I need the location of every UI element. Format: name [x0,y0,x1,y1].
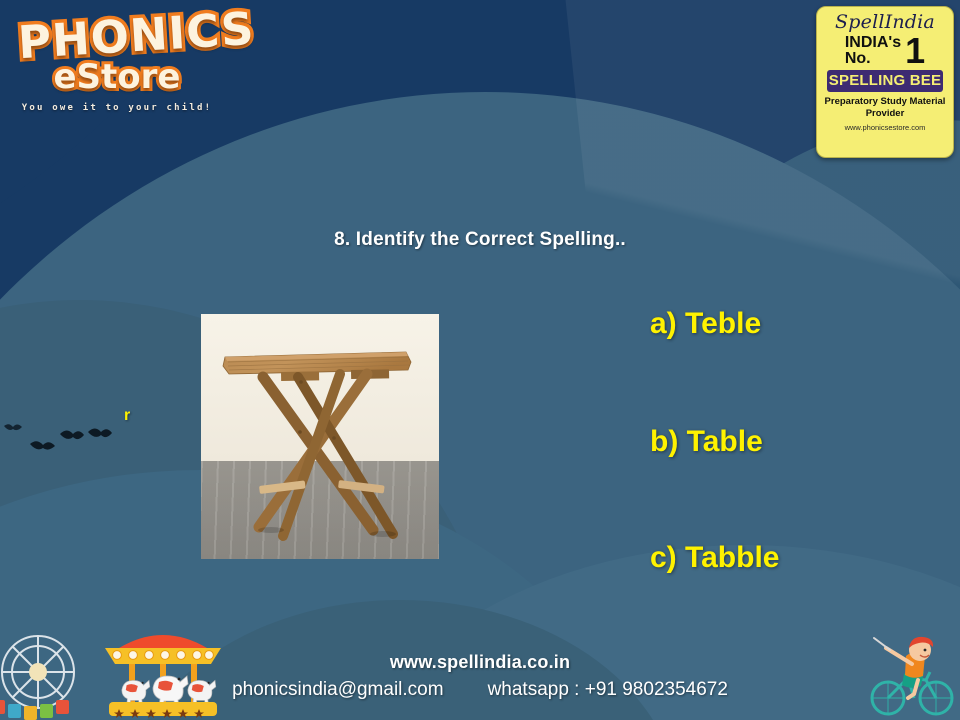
badge-rank-line2: No. [845,51,901,67]
footer-contact: www.spellindia.co.in phonicsindia@gmail.… [0,652,960,701]
footer-contact-row: phonicsindia@gmail.com whatsapp : +91 98… [0,679,960,701]
logo-tagline: You owe it to your child! [12,103,222,113]
badge-rank-number: 1 [905,35,925,67]
badge-url: www.phonicsestore.com [821,123,949,132]
stray-text-artifact: r [124,407,130,425]
answer-option-c[interactable]: c) Tabble [650,541,779,575]
answer-option-a[interactable]: a) Teble [650,307,761,341]
folding-table-illustration [201,314,439,559]
background-hill-right [560,120,960,720]
footer-email[interactable]: phonicsindia@gmail.com [232,679,444,701]
badge-spelling-bee-banner: SPELLING BEE [827,70,943,92]
slide-canvas: PHONICS eStore You owe it to your child!… [0,0,960,720]
badge-rank-group: INDIA's No. 1 [821,35,949,67]
birds-icon [2,418,112,462]
phonics-estore-logo: PHONICS eStore You owe it to your child! [12,10,222,130]
footer-website[interactable]: www.spellindia.co.in [0,652,960,673]
answer-option-b[interactable]: b) Table [650,425,763,459]
footer-whatsapp[interactable]: whatsapp : +91 9802354672 [488,679,728,701]
question-image-table [201,314,439,559]
badge-title: SpellIndia [821,13,949,33]
badge-rank-text: INDIA's No. [845,35,901,67]
badge-provider-text: Preparatory Study Material Provider [821,96,949,120]
spellindia-badge: SpellIndia INDIA's No. 1 SPELLING BEE Pr… [816,6,954,158]
page-title: 8. Identify the Correct Spelling.. [0,229,960,251]
badge-rank-line1: INDIA's [845,35,901,51]
